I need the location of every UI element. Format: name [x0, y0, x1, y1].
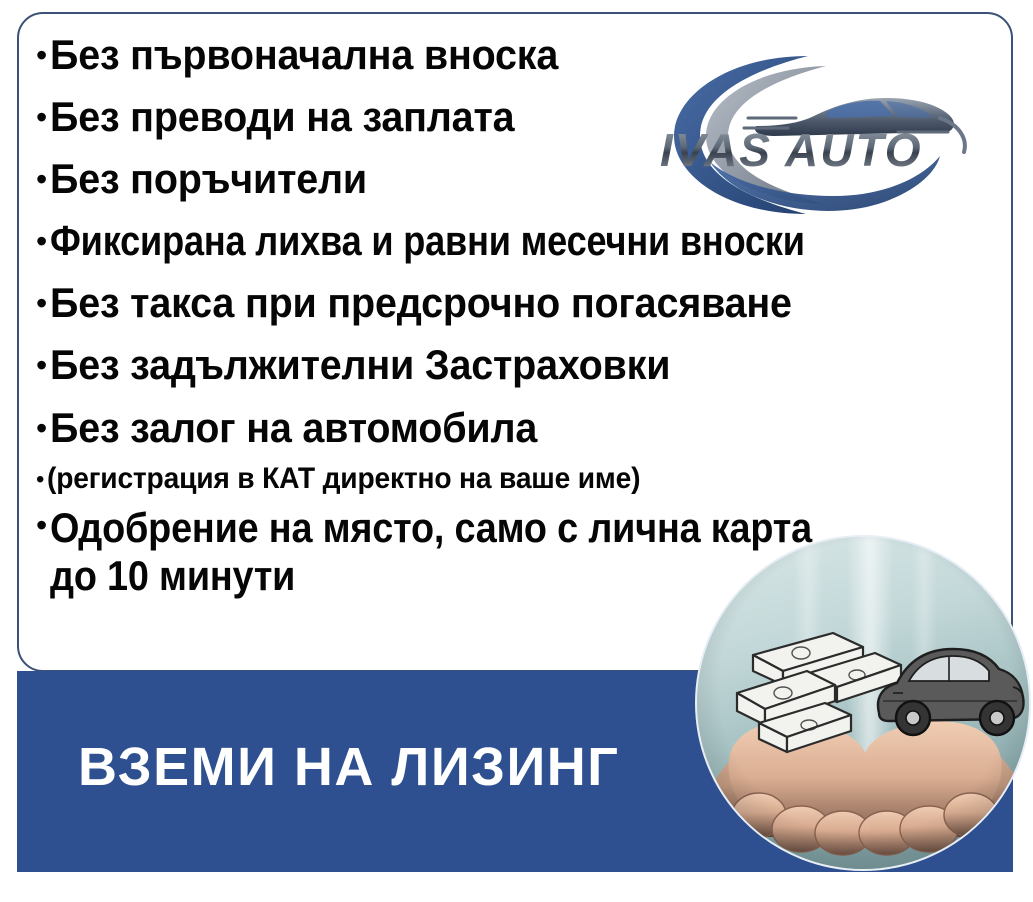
list-item-label: Фиксирана лихва и равни месечни вноски [50, 220, 805, 262]
bullet-dot-icon: • [36, 163, 47, 195]
list-item-label: (регистрация в КАТ директно на ваше име) [47, 464, 640, 494]
ivas-auto-logo: IVAS AUTO [648, 44, 978, 224]
list-item: • Без задължителни Застраховки [36, 344, 1011, 386]
bullet-dot-icon: • [36, 412, 47, 444]
list-item-label: Без задължителни Застраховки [50, 344, 670, 386]
bullet-dot-icon: • [36, 509, 47, 541]
list-item: • Фиксирана лихва и равни месечни вноски [36, 220, 1011, 262]
list-item-label: Без такса при предсрочно погасяване [50, 282, 792, 324]
bullet-dot-icon: • [36, 225, 47, 257]
bullet-dot-icon: • [36, 349, 47, 381]
bullet-dot-icon: • [36, 39, 47, 71]
bullet-dot-icon: • [36, 468, 44, 492]
list-item-label: Без преводи на заплата [50, 96, 514, 138]
leasing-advertisement-poster: • Без първоначална вноска • Без преводи … [0, 0, 1033, 902]
list-item: • Без залог на автомобила [36, 407, 1011, 449]
list-item-label: Без поръчители [50, 158, 367, 200]
cta-headline: ВЗЕМИ НА ЛИЗИНГ [78, 736, 698, 798]
list-item-label: Без първоначална вноска [50, 34, 558, 76]
list-item: • Без такса при предсрочно погасяване [36, 282, 1011, 324]
list-item-label: Одобрение на място, само с лична карта д… [50, 504, 812, 600]
bullet-dot-icon: • [36, 287, 47, 319]
hands-holding-money-and-car-photo [695, 535, 1031, 871]
bullet-dot-icon: • [36, 101, 47, 133]
list-item-label: Без залог на автомобила [50, 407, 537, 449]
list-item: • (регистрация в КАТ директно на ваше им… [36, 464, 1011, 494]
logo-wordmark: IVAS AUTO [660, 124, 923, 176]
